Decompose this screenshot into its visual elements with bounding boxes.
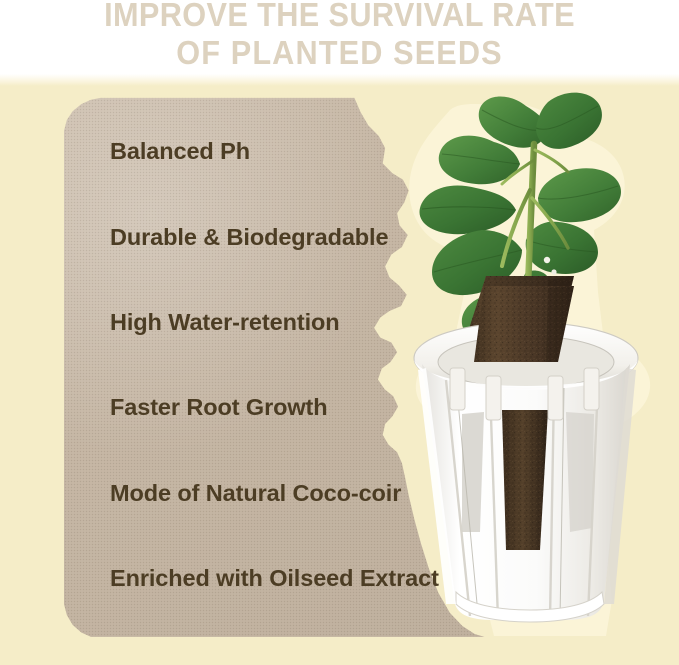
list-item: Balanced Ph: [110, 138, 250, 164]
list-item: Mode of Natural Coco-coir: [110, 480, 401, 506]
product-feature-poster: IMPROVE THE SURVIVAL RATE OF PLANTED SEE…: [0, 0, 679, 665]
list-item: Enriched with Oilseed Extract: [110, 565, 439, 591]
net-cup: [414, 286, 638, 622]
product-image: [398, 80, 679, 640]
list-item: Durable & Biodegradable: [110, 224, 388, 250]
list-item: Faster Root Growth: [110, 394, 328, 420]
list-item: High Water-retention: [110, 309, 340, 335]
